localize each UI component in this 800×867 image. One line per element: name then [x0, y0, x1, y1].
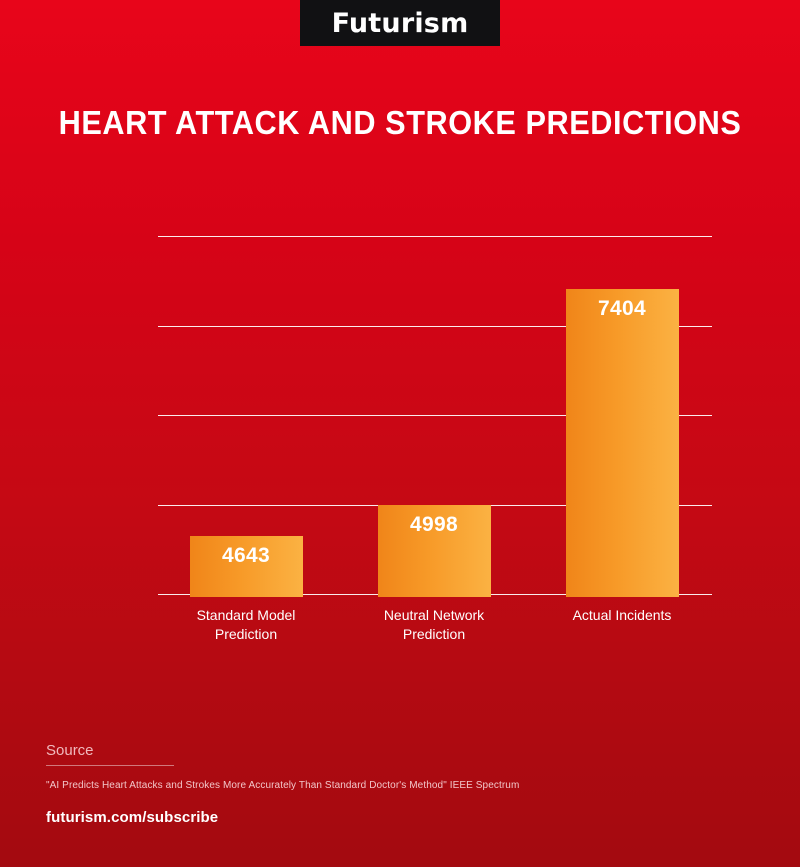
bar-value-label: 7404	[566, 297, 679, 321]
plot-area: 464349987404	[158, 236, 712, 594]
bar-value-label: 4998	[378, 513, 491, 537]
source-divider	[46, 765, 174, 766]
x-axis-category-label: Actual Incidents	[532, 606, 712, 625]
x-axis-label-line: Actual Incidents	[532, 606, 712, 625]
x-axis-label-line: Prediction	[156, 625, 336, 644]
bar: 4998	[378, 505, 491, 597]
source-heading: Source	[46, 742, 94, 765]
bar: 4643	[190, 536, 303, 597]
bar: 7404	[566, 289, 679, 597]
x-axis-category-label: Neutral NetworkPrediction	[344, 606, 524, 644]
x-axis-label-line: Standard Model	[156, 606, 336, 625]
footer: Source "AI Predicts Heart Attacks and St…	[46, 742, 756, 826]
x-axis-label-line: Neutral Network	[344, 606, 524, 625]
x-axis-category-label: Standard ModelPrediction	[156, 606, 336, 644]
bar-chart: 80007000600050004000 464349987404 Standa…	[0, 0, 800, 867]
source-citation: "AI Predicts Heart Attacks and Strokes M…	[46, 780, 756, 791]
bar-value-label: 4643	[190, 544, 303, 568]
x-axis-label-line: Prediction	[344, 625, 524, 644]
subscribe-url[interactable]: futurism.com/subscribe	[46, 809, 756, 826]
